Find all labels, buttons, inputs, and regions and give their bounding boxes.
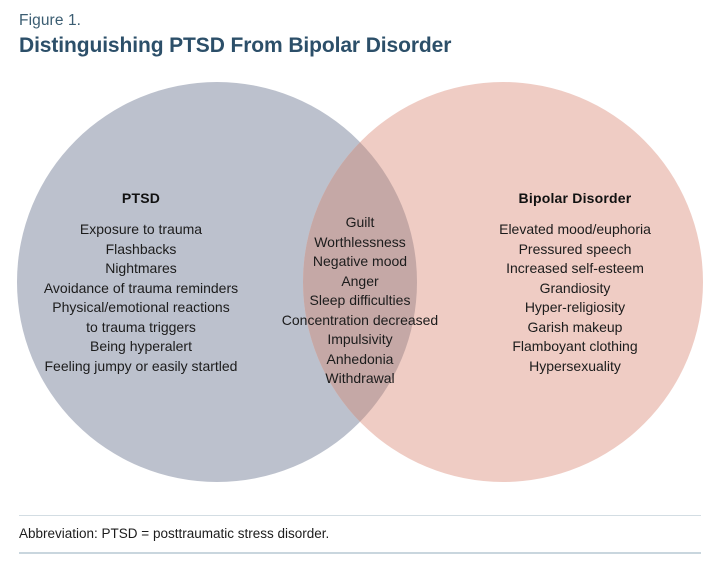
bipolar-symptom-list: Elevated mood/euphoriaPressured speechIn… [456, 220, 694, 376]
ptsd-symptom-item: Avoidance of trauma reminders [18, 279, 264, 299]
abbreviation-footnote: Abbreviation: PTSD = posttraumatic stres… [19, 526, 329, 541]
shared-column: GuiltWorthlessnessNegative moodAngerSlee… [272, 213, 448, 389]
bipolar-symptom-item: Garish makeup [456, 318, 694, 338]
ptsd-symptom-item: to trauma triggers [18, 318, 264, 338]
shared-symptom-item: Guilt [272, 213, 448, 233]
ptsd-symptom-item: Nightmares [18, 259, 264, 279]
shared-symptom-item: Worthlessness [272, 233, 448, 253]
bipolar-symptom-item: Hyper-religiosity [456, 298, 694, 318]
venn-diagram: PTSD Exposure to traumaFlashbacksNightma… [0, 0, 720, 510]
shared-symptom-list: GuiltWorthlessnessNegative moodAngerSlee… [272, 213, 448, 389]
shared-symptom-item: Negative mood [272, 252, 448, 272]
ptsd-symptom-item: Feeling jumpy or easily startled [18, 357, 264, 377]
bipolar-column: Bipolar Disorder Elevated mood/euphoriaP… [456, 190, 694, 376]
footnote-rule-top [19, 515, 701, 516]
shared-symptom-item: Withdrawal [272, 369, 448, 389]
bipolar-symptom-item: Hypersexuality [456, 357, 694, 377]
bipolar-symptom-item: Grandiosity [456, 279, 694, 299]
bipolar-symptom-item: Pressured speech [456, 240, 694, 260]
ptsd-symptom-item: Being hyperalert [18, 337, 264, 357]
shared-symptom-item: Impulsivity [272, 330, 448, 350]
shared-symptom-item: Anhedonia [272, 350, 448, 370]
shared-symptom-item: Concentration decreased [272, 311, 448, 331]
ptsd-symptom-item: Exposure to trauma [18, 220, 264, 240]
figure-container: Figure 1. Distinguishing PTSD From Bipol… [0, 0, 720, 564]
bipolar-symptom-item: Flamboyant clothing [456, 337, 694, 357]
bipolar-symptom-item: Increased self-esteem [456, 259, 694, 279]
shared-symptom-item: Sleep difficulties [272, 291, 448, 311]
shared-symptom-item: Anger [272, 272, 448, 292]
bipolar-symptom-item: Elevated mood/euphoria [456, 220, 694, 240]
ptsd-heading: PTSD [18, 190, 264, 206]
footnote-rule-bottom [19, 552, 701, 554]
bipolar-heading: Bipolar Disorder [456, 190, 694, 206]
ptsd-symptom-list: Exposure to traumaFlashbacksNightmaresAv… [18, 220, 264, 376]
ptsd-column: PTSD Exposure to traumaFlashbacksNightma… [18, 190, 264, 376]
ptsd-symptom-item: Flashbacks [18, 240, 264, 260]
ptsd-symptom-item: Physical/emotional reactions [18, 298, 264, 318]
